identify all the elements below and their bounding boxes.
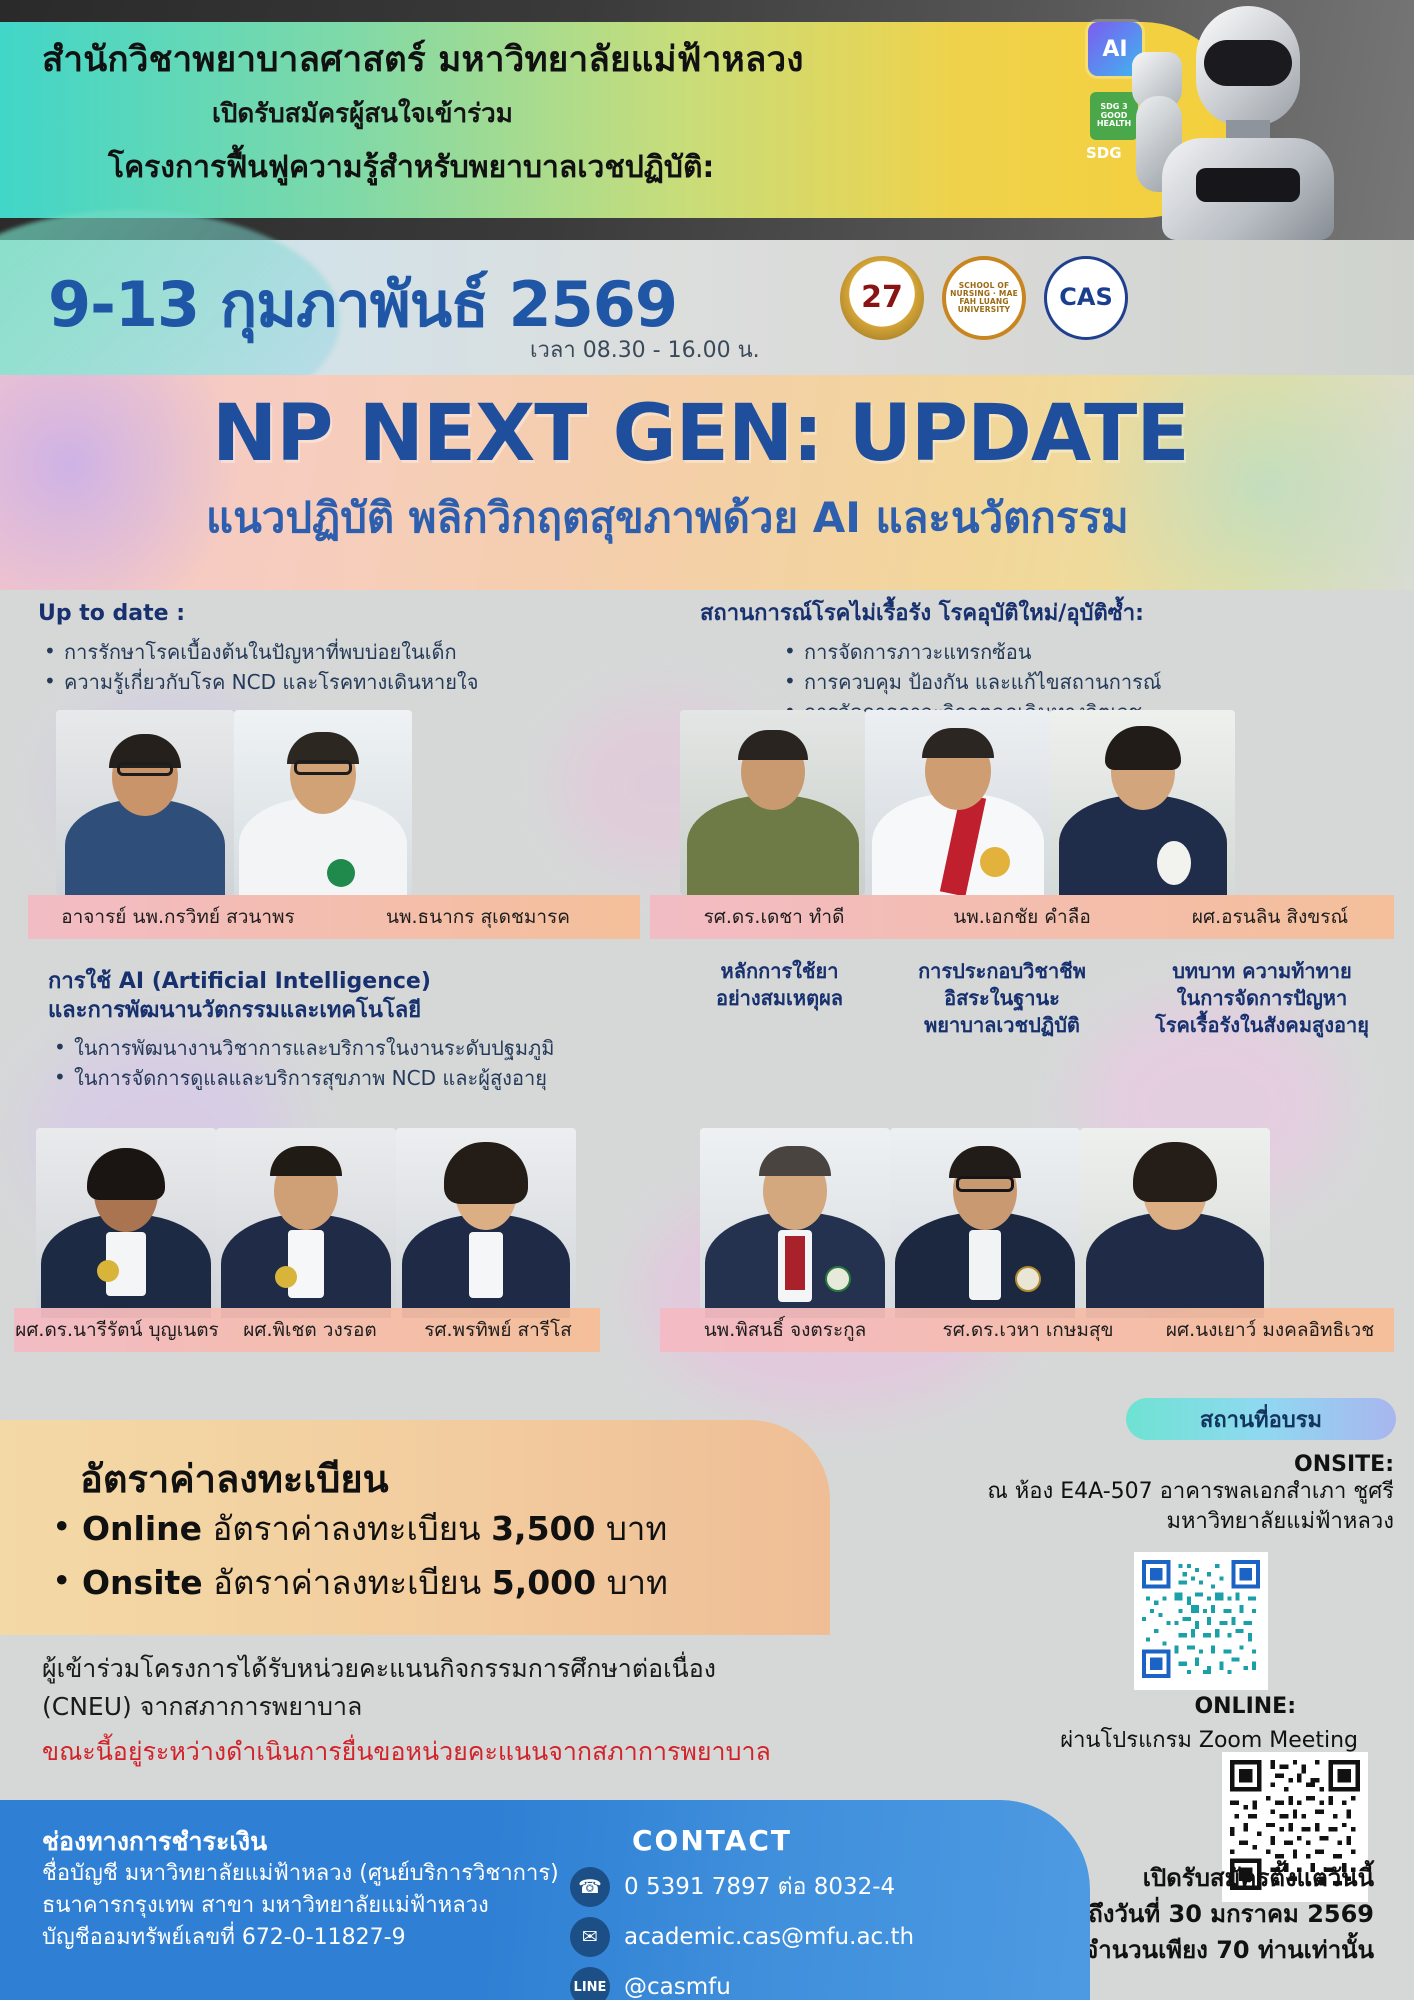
topic-heading-row: หลักการใช้ยา อย่างสมเหตุผล การประกอบวิชา… — [682, 958, 1397, 1039]
robot-chest-panel — [1196, 168, 1300, 202]
payment-title: ช่องทางการชำระเงิน — [42, 1822, 267, 1862]
cas-logo: CAS — [1044, 256, 1128, 340]
title-block: NP NEXT GEN: UPDATE แนวปฏิบัติ พลิกวิกฤต… — [0, 375, 1414, 590]
speaker-name: รศ.ดร.เวหา เกษมสุข — [910, 1315, 1146, 1345]
list-item: ในการจัดการดูแลและบริการสุขภาพ NCD และผู… — [48, 1063, 688, 1093]
payment-details: ชื่อบัญชี มหาวิทยาลัยแม่ฟ้าหลวง (ศูนย์บร… — [42, 1858, 559, 1954]
speaker-photo — [680, 710, 865, 895]
venue-pill-label: สถานที่อบรม — [1126, 1398, 1396, 1440]
topic-line: อิสระในฐานะ — [887, 985, 1117, 1012]
contact-email: academic.cas@mfu.ac.th — [624, 1924, 914, 1950]
payment-line-1: ชื่อบัญชี มหาวิทยาลัยแม่ฟ้าหลวง (ศูนย์บร… — [42, 1858, 559, 1890]
robot-visor — [1204, 40, 1292, 86]
topic-line: หลักการใช้ยา — [682, 958, 877, 985]
speaker-photo — [56, 710, 234, 895]
speaker-name-strip-row2-right: นพ.พิสนธิ์ จงตระกูล รศ.ดร.เวหา เกษมสุข ผ… — [660, 1308, 1394, 1352]
event-time: เวลา 08.30 - 16.00 น. — [530, 332, 760, 367]
speaker-photo — [865, 710, 1050, 895]
fee-mode: Online — [82, 1509, 202, 1548]
payment-line-3: บัญชีออมทรัพย์เลขที่ 672-0-11827-9 — [42, 1922, 559, 1954]
venue-online-label: ONLINE: — [1194, 1694, 1296, 1719]
contact-phone-row[interactable]: ☎ 0 5391 7897 ต่อ 8032-4 — [570, 1867, 914, 1907]
speaker-name-strip-row2-left: ผศ.ดร.นารีรัตน์ บุญเนตร ผศ.พิเชต วงรอต ร… — [14, 1308, 600, 1352]
topic-heading: การประกอบวิชาชีพ อิสระในฐานะ พยาบาลเวชปฏ… — [887, 958, 1117, 1039]
list-item: Onsite อัตราค่าลงทะเบียน 5,000 บาท — [42, 1556, 802, 1610]
section-heading-line-2: และการพัฒนานวัตกรรมและเทคโนโลยี — [48, 997, 688, 1026]
speaker-photo-row-1-right — [680, 710, 1235, 895]
section-ai-innovation: การใช้ AI (Artificial Intelligence) และก… — [48, 968, 688, 1093]
section-bullet-list: ในการพัฒนางานวิชาการและบริการในงานระดับป… — [48, 1033, 688, 1093]
email-icon: ✉ — [570, 1917, 610, 1957]
registration-fee-title: อัตราค่าลงทะเบียน — [80, 1448, 389, 1509]
fee-mode: Onsite — [82, 1563, 203, 1602]
topic-line: โรคเรื้อรังในสังคมสูงอายุ — [1127, 1012, 1397, 1039]
fee-amount: 3,500 — [491, 1509, 595, 1548]
list-item: ในการพัฒนางานวิชาการและบริการในงานระดับป… — [48, 1033, 688, 1063]
topic-heading: บทบาท ความท้าทาย ในการจัดการปัญหา โรคเรื… — [1127, 958, 1397, 1039]
list-item: การรักษาโรคเบื้องต้นในปัญหาที่พบบ่อยในเด… — [38, 637, 658, 667]
header-gradient-band: สำนักวิชาพยาบาลศาสตร์ มหาวิทยาลัยแม่ฟ้าห… — [0, 22, 1240, 218]
header-project-title: โครงการฟื้นฟูความรู้สำหรับพยาบาลเวชปฏิบั… — [42, 144, 1200, 191]
speaker-name-strip-row1-left: อาจารย์ นพ.กรวิทย์ สวนาพร นพ.ธนากร สุเดช… — [28, 895, 640, 939]
list-item: Online อัตราค่าลงทะเบียน 3,500 บาท — [42, 1502, 802, 1556]
speaker-name: รศ.ดร.เดชา ทำดี — [650, 902, 898, 932]
speaker-photo-row-2-right — [700, 1128, 1270, 1318]
speaker-photo — [700, 1128, 890, 1318]
fee-unit: บาท — [607, 1563, 668, 1602]
list-item: ความรู้เกี่ยวกับโรค NCD และโรคทางเดินหาย… — [38, 667, 658, 697]
cneu-note: ผู้เข้าร่วมโครงการได้รับหน่วยคะแนนกิจกรร… — [42, 1650, 842, 1771]
section-heading: Up to date : — [38, 600, 658, 629]
speaker-name: นพ.ธนากร สุเดชมารค — [328, 902, 628, 932]
cas-text: CAS — [1059, 285, 1112, 310]
payment-line-2: ธนาคารกรุงเทพ สาขา มหาวิทยาลัยแม่ฟ้าหลวง — [42, 1890, 559, 1922]
fee-label: อัตราค่าลงทะเบียน — [213, 1509, 481, 1548]
speaker-name: อาจารย์ นพ.กรวิทย์ สวนาพร — [28, 902, 328, 932]
contact-email-row[interactable]: ✉ academic.cas@mfu.ac.th — [570, 1917, 914, 1957]
speaker-name: ผศ.ดร.นารีรัตน์ บุญเนตร — [14, 1315, 220, 1345]
speaker-photo-row-2-left — [36, 1128, 576, 1318]
speaker-name: ผศ.พิเชต วงรอต — [220, 1315, 400, 1345]
topic-line: อย่างสมเหตุผล — [682, 985, 877, 1012]
speaker-photo — [234, 710, 412, 895]
venue-onsite-block: ONSITE: ณ ห้อง E4A-507 อาคารพลเอกสำเภา ช… — [874, 1452, 1394, 1536]
fee-label: อัตราค่าลงทะเบียน — [213, 1563, 481, 1602]
cneu-line-2: (CNEU) จากสภาการพยาบาล — [42, 1688, 842, 1726]
speaker-photo — [36, 1128, 216, 1318]
cneu-pending-note: ขณะนี้อยู่ระหว่างดำเนินการยื่นขอหน่วยคะแ… — [42, 1733, 842, 1771]
speaker-name: ผศ.นงเยาว์ มงคลอิทธิเวช — [1146, 1315, 1394, 1345]
contact-title: CONTACT — [632, 1824, 914, 1857]
date-band: 9-13 กุมภาพันธ์ 2569 เวลา 08.30 - 16.00 … — [0, 240, 1414, 375]
mfu-27th-anniversary-logo: 27 — [840, 256, 924, 340]
speaker-photo — [396, 1128, 576, 1318]
speaker-name-strip-row1-right: รศ.ดร.เดชา ทำดี นพ.เอกชัย คำลือ ผศ.อรนลิ… — [650, 895, 1394, 939]
section-chronic-disease: สถานการณ์โรคไม่เรื้อรัง โรคอุบัติใหม่/อุ… — [700, 600, 1390, 727]
line-icon: LINE — [570, 1967, 610, 2000]
logo-row: 27 SCHOOL OF NURSING · MAE FAH LUANG UNI… — [840, 256, 1128, 340]
sdg-badge-icon: SDG 3 GOOD HEALTH — [1090, 92, 1138, 140]
speaker-photo — [890, 1128, 1080, 1318]
phone-icon: ☎ — [570, 1867, 610, 1907]
main-title: NP NEXT GEN: UPDATE — [212, 389, 1189, 479]
mfu-27-text: 27 — [861, 282, 903, 314]
section-up-to-date: Up to date : การรักษาโรคเบื้องต้นในปัญหา… — [38, 600, 658, 697]
venue-onsite-label: ONSITE: — [874, 1452, 1394, 1477]
school-of-nursing-text: SCHOOL OF NURSING · MAE FAH LUANG UNIVER… — [946, 282, 1022, 314]
section-bullet-list: การรักษาโรคเบื้องต้นในปัญหาที่พบบ่อยในเด… — [38, 637, 658, 697]
speaker-name: นพ.พิสนธิ์ จงตระกูล — [660, 1315, 910, 1345]
poster-header: สำนักวิชาพยาบาลศาสตร์ มหาวิทยาลัยแม่ฟ้าห… — [0, 0, 1414, 240]
speaker-name: ผศ.อรนลิน สิงขรณ์ — [1146, 902, 1394, 932]
topic-line: ในการจัดการปัญหา — [1127, 985, 1397, 1012]
speaker-photo — [216, 1128, 396, 1318]
section-heading: สถานการณ์โรคไม่เรื้อรัง โรคอุบัติใหม่/อุ… — [700, 600, 1390, 629]
qr-code-onsite-registration[interactable] — [1134, 1552, 1268, 1690]
poster-footer: ช่องทางการชำระเงิน ชื่อบัญชี มหาวิทยาลัย… — [0, 1800, 1090, 2000]
contact-block: CONTACT ☎ 0 5391 7897 ต่อ 8032-4 ✉ acade… — [570, 1824, 914, 2000]
contact-line-row[interactable]: LINE @casmfu — [570, 1967, 914, 2000]
speaker-name: รศ.พรทิพย์ สารีโส — [400, 1315, 596, 1345]
list-item: การควบคุม ป้องกัน และแก้ไขสถานการณ์ — [778, 667, 1390, 697]
speaker-photo-row-1-left — [56, 710, 412, 895]
topic-line: การประกอบวิชาชีพ — [887, 958, 1117, 985]
ai-robot-illustration: AI SDG 3 GOOD HEALTH SDG — [1078, 0, 1378, 240]
contact-line-id: @casmfu — [624, 1974, 731, 2000]
cneu-line-1: ผู้เข้าร่วมโครงการได้รับหน่วยคะแนนกิจกรร… — [42, 1650, 842, 1688]
school-of-nursing-logo: SCHOOL OF NURSING · MAE FAH LUANG UNIVER… — [942, 256, 1026, 340]
header-subline: เปิดรับสมัครผู้สนใจเข้าร่วม — [42, 93, 1200, 134]
topic-heading: หลักการใช้ยา อย่างสมเหตุผล — [682, 958, 877, 1039]
venue-onsite-line-1: ณ ห้อง E4A-507 อาคารพลเอกสำเภา ชูศรี — [874, 1477, 1394, 1507]
qr-onsite-svg — [1142, 1560, 1260, 1678]
topic-line: บทบาท ความท้าทาย — [1127, 958, 1397, 985]
sdg-label: SDG — [1086, 144, 1122, 162]
fee-unit: บาท — [606, 1509, 667, 1548]
organization-title: สำนักวิชาพยาบาลศาสตร์ มหาวิทยาลัยแม่ฟ้าห… — [42, 40, 1200, 81]
topic-line: พยาบาลเวชปฏิบัติ — [887, 1012, 1117, 1039]
poster-root: สำนักวิชาพยาบาลศาสตร์ มหาวิทยาลัยแม่ฟ้าห… — [0, 0, 1414, 2000]
contact-phone: 0 5391 7897 ต่อ 8032-4 — [624, 1869, 895, 1905]
speaker-photo — [1080, 1128, 1270, 1318]
registration-fee-list: Online อัตราค่าลงทะเบียน 3,500 บาท Onsit… — [42, 1502, 802, 1611]
sub-title: แนวปฏิบัติ พลิกวิกฤตสุขภาพด้วย AI และนวั… — [206, 485, 1129, 551]
fee-amount: 5,000 — [492, 1563, 596, 1602]
section-heading-line-1: การใช้ AI (Artificial Intelligence) — [48, 968, 688, 997]
venue-onsite-line-2: มหาวิทยาลัยแม่ฟ้าหลวง — [874, 1507, 1394, 1537]
speaker-photo — [1050, 710, 1235, 895]
speaker-name: นพ.เอกชัย คำลือ — [898, 902, 1146, 932]
list-item: การจัดการภาวะแทรกซ้อน — [778, 637, 1390, 667]
